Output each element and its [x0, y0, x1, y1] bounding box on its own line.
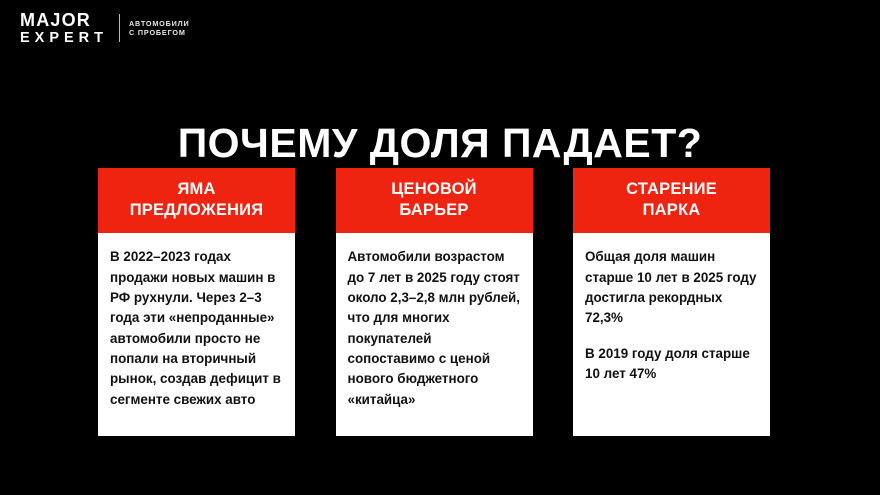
info-card-header: ЦЕНОВОЙ БАРЬЕР: [336, 168, 533, 233]
logo-wordmark-line1: MAJOR: [20, 11, 108, 29]
info-card-header: СТАРЕНИЕ ПАРКА: [573, 168, 770, 233]
logo-tagline: АВТОМОБИЛИ С ПРОБЕГОМ: [129, 19, 190, 38]
logo-wordmark-line2: EXPERT: [20, 31, 108, 46]
info-card-header-line1: ЯМА: [104, 179, 289, 200]
logo-tagline-line1: АВТОМОБИЛИ: [129, 19, 190, 29]
info-card-yama-predlozheniya: ЯМА ПРЕДЛОЖЕНИЯ В 2022–2023 годах продаж…: [98, 168, 295, 436]
info-card-body: В 2022–2023 годах продажи новых машин в …: [98, 233, 295, 436]
slide-title: ПОЧЕМУ ДОЛЯ ПАДАЕТ?: [0, 120, 880, 167]
info-card-header-line1: ЦЕНОВОЙ: [342, 179, 527, 200]
info-card-header: ЯМА ПРЕДЛОЖЕНИЯ: [98, 168, 295, 233]
info-card-header-line2: ПРЕДЛОЖЕНИЯ: [104, 200, 289, 221]
info-card-header-line2: БАРЬЕР: [342, 200, 527, 221]
info-card-paragraph: В 2019 году доля старше 10 лет 47%: [585, 344, 758, 385]
brand-logo: MAJOR EXPERT АВТОМОБИЛИ С ПРОБЕГОМ: [20, 11, 190, 46]
info-card-paragraph: Общая доля машин старше 10 лет в 2025 го…: [585, 247, 758, 329]
info-card-body: Общая доля машин старше 10 лет в 2025 го…: [573, 233, 770, 436]
info-card-body: Автомобили возрастом до 7 лет в 2025 год…: [336, 233, 533, 436]
cards-container: ЯМА ПРЕДЛОЖЕНИЯ В 2022–2023 годах продаж…: [98, 168, 770, 436]
logo-tagline-line2: С ПРОБЕГОМ: [129, 28, 190, 38]
info-card-header-line2: ПАРКА: [579, 200, 764, 221]
info-card-header-line1: СТАРЕНИЕ: [579, 179, 764, 200]
info-card-starenie-parka: СТАРЕНИЕ ПАРКА Общая доля машин старше 1…: [573, 168, 770, 436]
info-card-cenovoy-barier: ЦЕНОВОЙ БАРЬЕР Автомобили возрастом до 7…: [336, 168, 533, 436]
info-card-paragraph: В 2022–2023 годах продажи новых машин в …: [110, 247, 283, 410]
info-card-paragraph: Автомобили возрастом до 7 лет в 2025 год…: [348, 247, 521, 410]
logo-wordmark: MAJOR EXPERT: [20, 11, 108, 46]
logo-divider: [119, 14, 120, 42]
